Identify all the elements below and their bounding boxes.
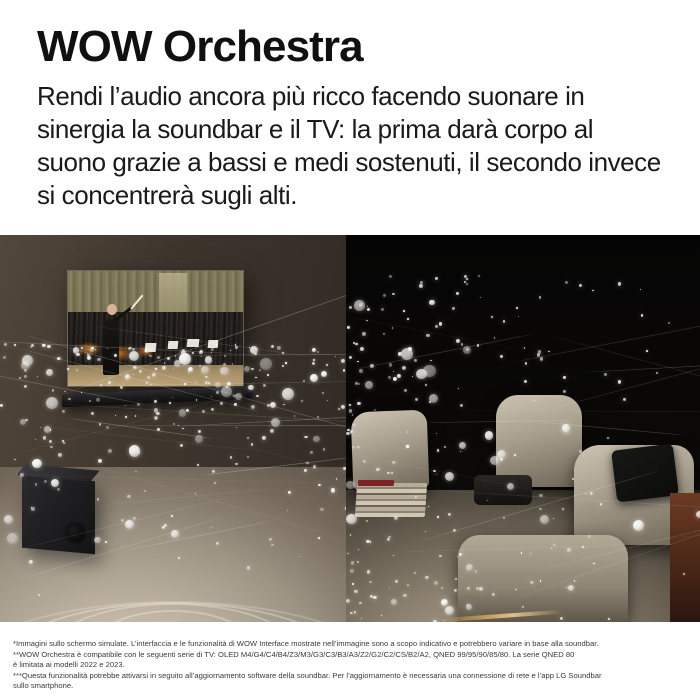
sound-particle [367,306,368,307]
sound-particle [524,380,527,383]
promo-page: WOW Orchestra Rendi l’audio ancora più r… [0,0,700,700]
sound-particle [459,442,466,449]
hero-image [0,235,700,622]
sound-particle [392,327,394,329]
sound-particle [420,281,423,284]
sound-particle [359,369,363,373]
hero-right-scene [346,235,700,622]
sound-particle [355,343,357,345]
sound-particle [429,300,435,306]
sound-particle [388,376,391,379]
sound-particle [365,381,372,388]
sound-particle [444,446,447,449]
music-sheet [145,343,157,352]
sound-particle [579,284,582,287]
sound-particle [389,275,392,278]
sound-particle [466,278,468,280]
sound-particle [355,382,358,385]
music-sheet [187,339,200,347]
sound-particle [357,402,361,406]
sound-particle [429,401,431,403]
tv-device [68,271,243,386]
sound-particle [349,356,352,359]
sound-particle [381,308,384,311]
page-description: Rendi l’audio ancora più ricco facendo s… [37,80,662,212]
sound-particle [352,414,354,416]
sound-particle [404,389,407,392]
sound-particle [419,284,423,288]
sound-particle [604,373,607,376]
sound-particle [623,398,626,401]
armchair [351,410,430,491]
sound-particle [430,360,432,362]
footnote-line: *Immagini sullo schermo simulate. L’inte… [13,639,693,650]
sound-particle [478,275,480,277]
sound-particle [500,355,503,358]
sound-particle [494,337,496,339]
sound-particle [668,322,670,324]
sound-particle [359,303,363,307]
sound-particle [425,384,427,386]
sound-wave-streak [346,314,519,350]
sound-particle [401,348,413,360]
sound-particle [436,433,437,434]
book-stack [355,483,427,517]
sound-particle [353,342,355,344]
sound-particle [477,344,480,347]
sound-particle [537,353,541,357]
sound-particle [403,310,405,312]
sound-particle [426,334,430,338]
sound-particle [429,394,438,403]
sound-particle [565,281,569,285]
sound-particle [456,292,459,295]
sound-particle [503,320,506,323]
sound-particle [458,388,459,389]
soundbar-led-icon [96,398,100,402]
sound-particle [358,383,360,385]
sound-particle [618,282,622,286]
wood-panel [670,493,700,622]
sound-particle [437,449,439,451]
sound-particle [383,294,386,297]
sound-particle [393,377,397,381]
sound-particle [452,307,455,310]
sound-particle [383,333,386,336]
sound-particle [464,281,466,283]
sound-particle [463,346,471,354]
music-sheet [208,340,219,348]
sound-particle [563,390,566,393]
sound-particle [408,347,413,352]
sound-particle [347,429,350,432]
sound-particle [370,364,374,368]
sound-particle [480,297,481,298]
sound-particle [656,372,658,374]
sound-particle [398,352,402,356]
sound-particle [466,283,468,285]
sound-particle [346,432,350,436]
sound-particle [435,277,438,280]
ottoman [474,475,532,505]
sound-particle [354,300,365,311]
subwoofer-port [63,519,87,545]
sound-particle [349,409,353,413]
sound-wave-streak [509,297,700,363]
sound-wave-streak [356,333,535,369]
footnote-line: **WOW Orchestra è compatibile con le seg… [13,650,693,661]
footnote-line: sullo smartphone. [13,681,693,692]
sound-particle [524,347,525,348]
page-title: WOW Orchestra [37,22,677,72]
sound-particle [402,366,406,370]
sound-particle [539,296,542,299]
sound-particle [415,398,419,402]
sound-particle [397,374,401,378]
sound-particle [357,361,359,363]
sound-particle [464,275,467,278]
sound-particle [412,376,413,377]
hero-left-scene [0,235,346,622]
sound-particle [466,348,469,351]
sound-particle [416,369,427,380]
sound-wave-streak [586,350,700,373]
sound-particle [491,316,492,317]
music-sheet [167,341,178,349]
conductor-figure [103,319,119,375]
sound-particle [641,314,644,317]
dark-cushion [611,443,679,502]
sound-particle [362,332,366,336]
sound-particle [367,308,371,312]
sound-particle [618,380,621,383]
orchestra-musicians [68,312,243,365]
sound-particle [414,359,417,362]
sound-particle [461,343,464,346]
sound-particle [349,404,351,406]
sound-particle [456,339,460,343]
sound-particle [423,365,436,378]
armchair [496,395,582,487]
sound-particle [349,306,352,309]
sound-particle [392,293,395,296]
sound-particle [366,320,368,322]
sound-particle [435,325,438,328]
sound-particle [485,431,494,440]
sofa [458,535,628,622]
sound-particle [525,362,528,365]
sound-particle [460,451,461,452]
footnote-line: è limitata ai modelli 2022 e 2023. [13,660,693,671]
headline-block: WOW Orchestra Rendi l’audio ancora più r… [37,22,677,212]
sound-particle [540,357,544,361]
red-book [358,480,395,486]
sound-particle [407,318,409,320]
sound-particle [538,350,541,353]
subwoofer-device [22,475,95,554]
sound-particle [516,307,518,309]
sound-particle [548,351,550,353]
sound-particle [360,347,364,351]
sound-particle [563,376,566,379]
sound-particle [347,326,350,329]
sound-particle [460,404,463,407]
sound-particle [607,437,609,439]
footnote-line: ***Questa funzionalità potrebbe attivars… [13,671,693,682]
footnotes: *Immagini sullo schermo simulate. L’inte… [13,639,693,692]
sound-particle [439,322,443,326]
sound-particle [646,350,648,352]
sound-particle [393,371,394,372]
sound-particle [518,316,519,317]
sound-particle [640,289,642,291]
sound-particle [389,363,393,367]
sound-particle [592,290,594,292]
